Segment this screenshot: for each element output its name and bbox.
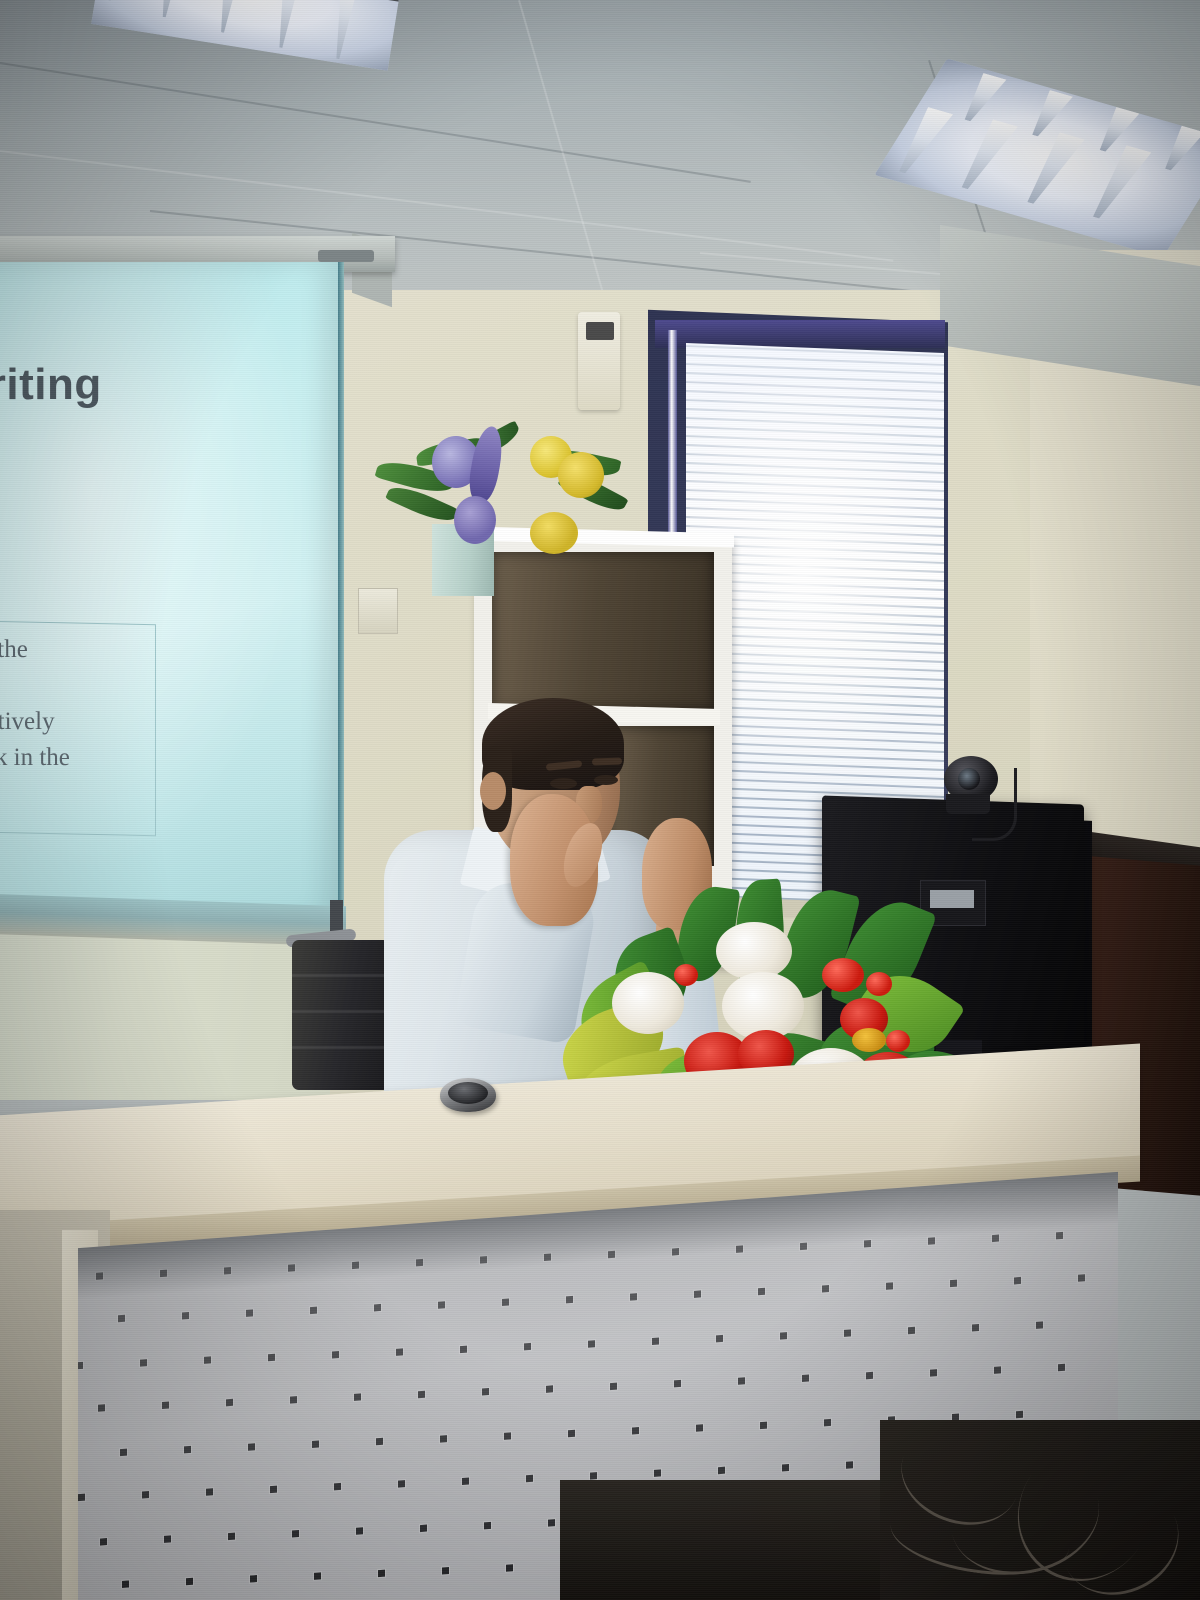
screen-roller-knob[interactable] bbox=[318, 250, 374, 262]
yellow-flower bbox=[530, 512, 578, 554]
red-berry bbox=[866, 972, 892, 996]
yellow-bud bbox=[852, 1028, 886, 1052]
computer-mouse-body[interactable] bbox=[448, 1082, 488, 1104]
speaker-eyebrow-right bbox=[592, 757, 622, 765]
slide-title-line2: writing bbox=[0, 360, 102, 410]
webcam-lens-icon bbox=[958, 768, 980, 790]
speaker-eye-left bbox=[550, 778, 577, 789]
purple-flower bbox=[454, 496, 496, 544]
white-carnation bbox=[612, 972, 684, 1034]
red-berry bbox=[822, 958, 864, 992]
slide-body-line3: work in the bbox=[0, 742, 70, 773]
slide-body-line2: bjectively bbox=[0, 706, 55, 737]
shelf-bouquet bbox=[372, 408, 634, 558]
light-switch-plate[interactable] bbox=[358, 588, 398, 634]
red-berry bbox=[886, 1030, 910, 1052]
slide-body-line1: ng the bbox=[0, 634, 28, 665]
shelf-cubby-top bbox=[492, 552, 714, 710]
speaker-eye-right bbox=[594, 775, 618, 785]
wall-speaker-grill bbox=[586, 322, 614, 340]
red-berry bbox=[674, 964, 698, 986]
white-carnation bbox=[716, 922, 792, 980]
yellow-flower bbox=[558, 452, 604, 498]
speaker-ear bbox=[480, 772, 506, 810]
webcam-clip bbox=[946, 794, 990, 814]
cable-bundle bbox=[880, 1420, 1200, 1600]
classroom-photo-scene: II writing ng the bjectively work in the bbox=[0, 0, 1200, 1600]
